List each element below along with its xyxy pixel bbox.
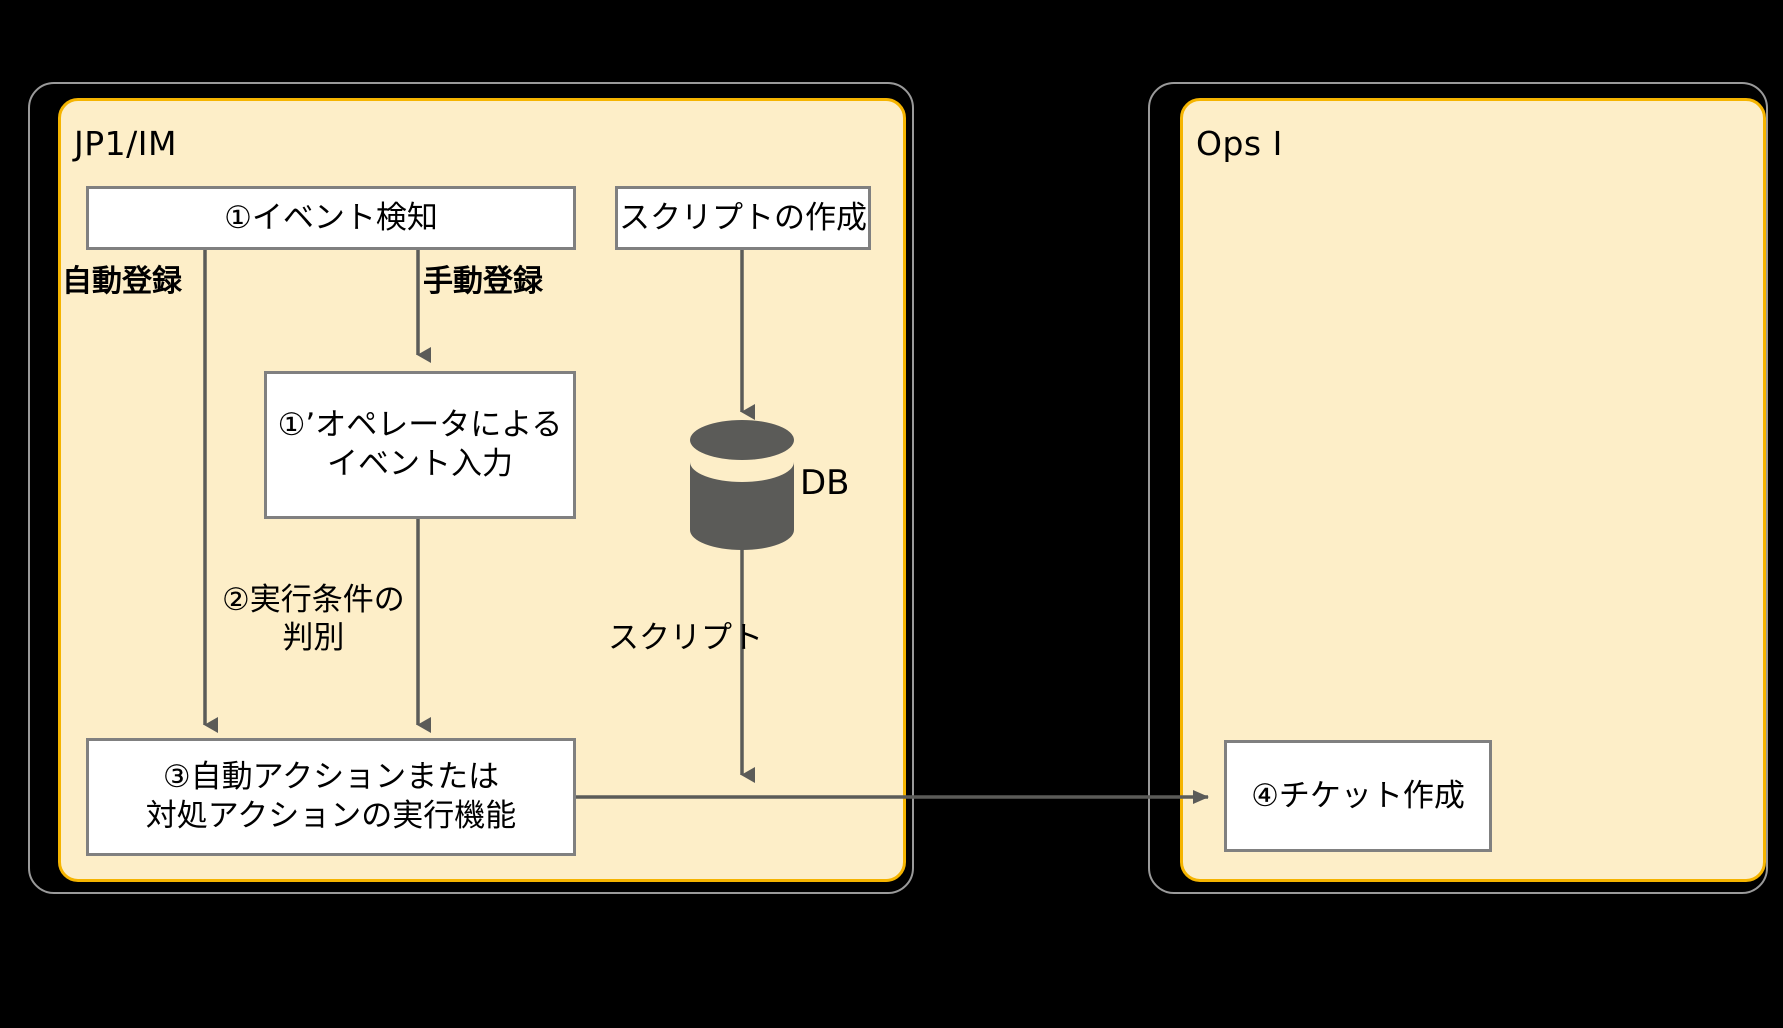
box-script-create-label: スクリプトの作成 [619,199,867,238]
box-action-exec-line2: 対処アクションの実行機能 [146,797,516,836]
box-operator-input[interactable]: ①’オペレータによる イベント入力 [264,371,576,519]
label-auto-register: 自動登録 [62,264,182,301]
box-operator-input-line2: イベント入力 [327,445,513,484]
diagram-canvas: JP1/IM Ops I ①イ [0,0,1783,1028]
label-manual-register: 手動登録 [423,264,543,301]
box-script-create[interactable]: スクリプトの作成 [615,186,871,250]
box-event-detect[interactable]: ①イベント検知 [86,186,576,250]
label-db: DB [800,463,850,503]
box-operator-input-line1: ①’オペレータによる [278,406,563,445]
label-script: スクリプト [608,620,763,658]
label-exec-condition-line1: ②実行条件の [222,582,405,620]
box-ticket-create[interactable]: ④チケット作成 [1224,740,1492,852]
box-ticket-create-label: ④チケット作成 [1251,777,1465,816]
box-event-detect-label: ①イベント検知 [224,199,438,238]
box-action-exec[interactable]: ③自動アクションまたは 対処アクションの実行機能 [86,738,576,856]
label-exec-condition: ②実行条件の 判別 [222,582,405,658]
box-action-exec-line1: ③自動アクションまたは [163,758,499,797]
jp1im-panel-title: JP1/IM [74,124,177,163]
opsi-panel-title: Ops I [1196,124,1283,163]
label-exec-condition-line2: 判別 [222,620,405,658]
